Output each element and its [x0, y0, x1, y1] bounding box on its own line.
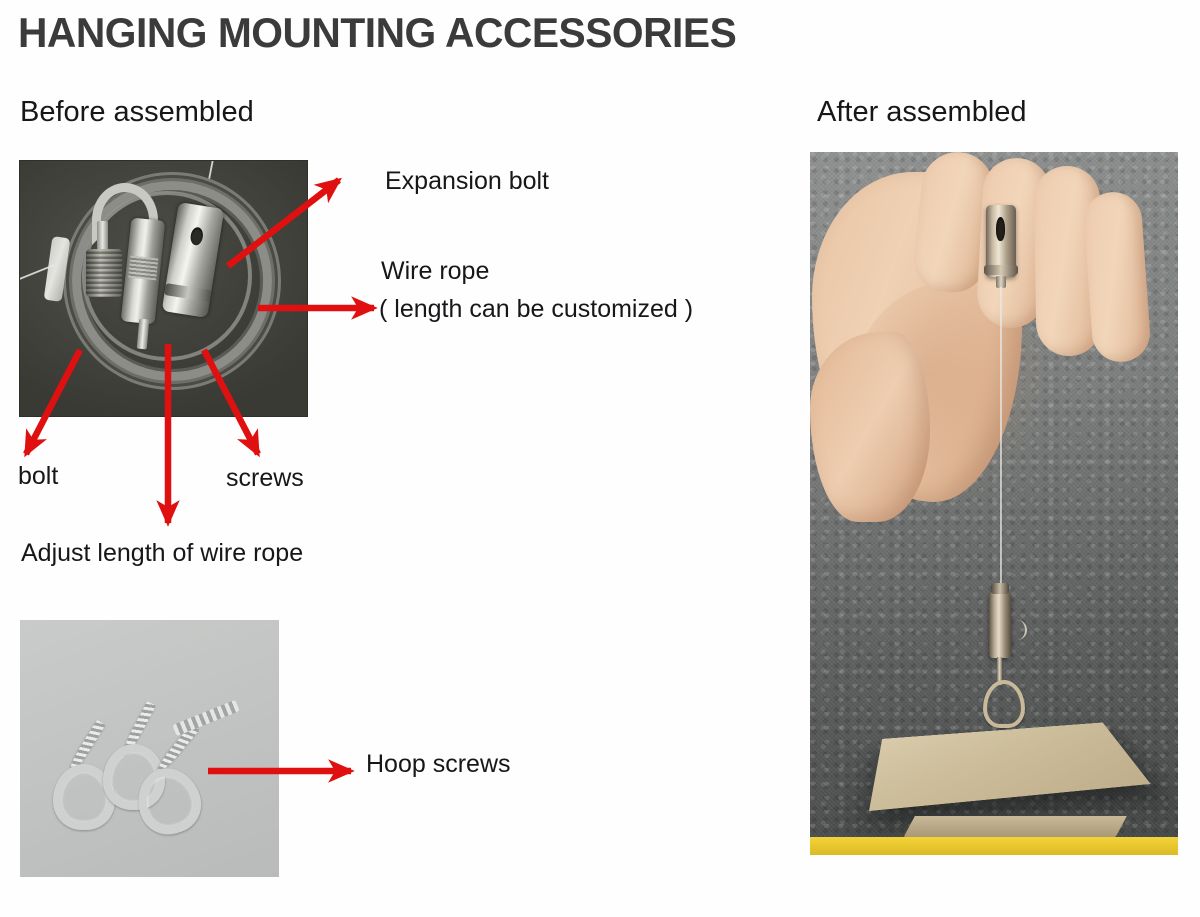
- label-expansion-bolt: Expansion bolt: [385, 167, 549, 196]
- hand-finger-little: [1082, 190, 1152, 364]
- label-adjust-length: Adjust length of wire rope: [21, 539, 303, 568]
- label-wire-rope: Wire rope: [381, 257, 489, 286]
- label-hoop-screws: Hoop screws: [366, 750, 511, 779]
- floor-strip: [810, 837, 1178, 855]
- expansion-bolt-lip: [164, 283, 211, 302]
- plastic-anchor-part: [44, 236, 71, 302]
- expansion-bolt-hole: [189, 226, 204, 246]
- photo-kit-parts: [19, 160, 308, 417]
- photo-assembled-product: [810, 152, 1178, 855]
- cable-gripper-slot: [996, 217, 1005, 241]
- label-screws: screws: [226, 464, 304, 493]
- threaded-bolt-part: [86, 249, 122, 297]
- cable-gripper-collar: [984, 265, 1018, 275]
- wooden-board-edge: [903, 816, 1127, 838]
- label-bolt: bolt: [18, 462, 58, 491]
- hand-thumb: [810, 332, 930, 522]
- section-heading-before: Before assembled: [20, 96, 254, 129]
- photo-hoop-screws: [20, 620, 279, 877]
- cable-gripper-lower: [989, 592, 1011, 658]
- page-title: HANGING MOUNTING ACCESSORIES: [18, 9, 736, 57]
- label-wire-rope-note: ( length can be customized ): [379, 295, 693, 324]
- cable-gripper-tail-wire: [1007, 620, 1027, 640]
- cable-gripper-upper: [986, 205, 1016, 277]
- hoop-screw-3-thread: [172, 700, 240, 737]
- hanging-wire-rope: [1000, 287, 1002, 592]
- section-heading-after: After assembled: [817, 96, 1027, 129]
- slide-canvas: HANGING MOUNTING ACCESSORIES Before asse…: [0, 0, 1200, 917]
